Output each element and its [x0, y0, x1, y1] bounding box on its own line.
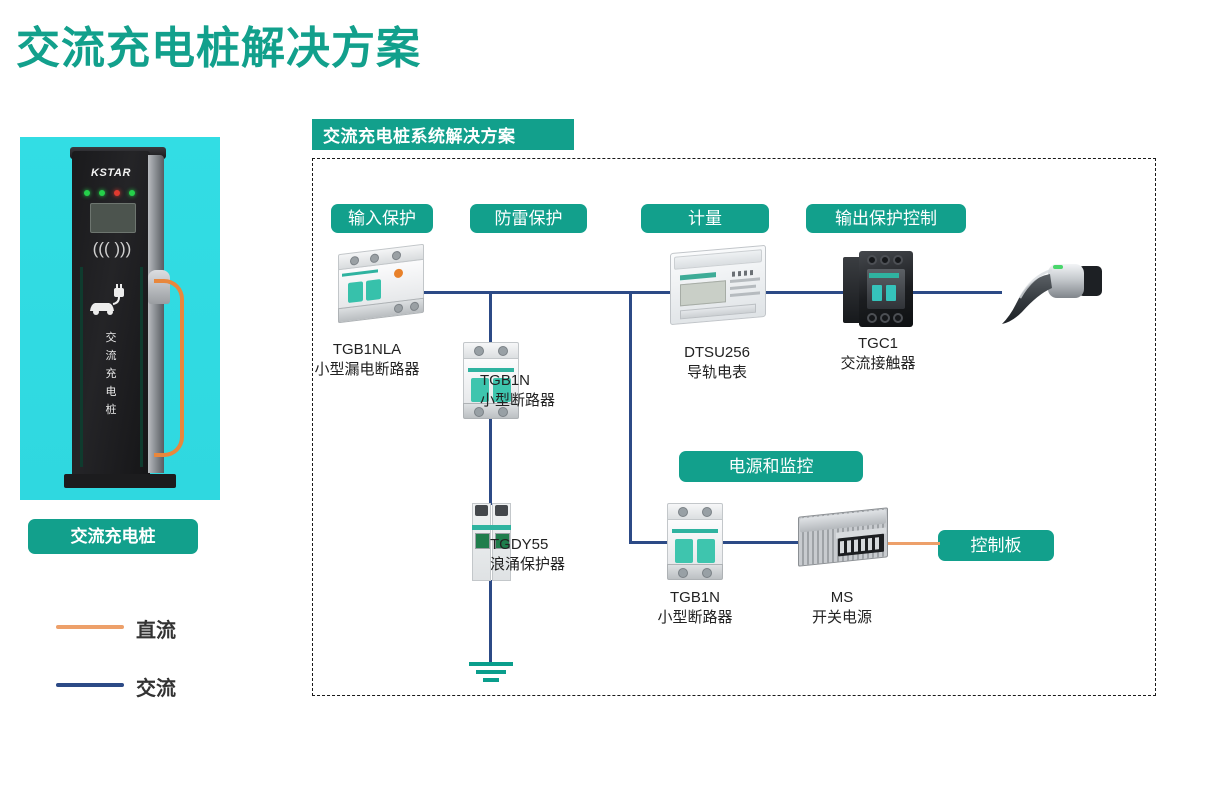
stage-label-power-monitoring: 电源和监控 [679, 451, 863, 482]
ev-charging-gun-icon [990, 258, 1110, 330]
wire-ac-psu-branch-vertical [629, 291, 632, 543]
caption-contactor-model: TGC1 [788, 334, 968, 354]
stage-label-metering: 计量 [641, 204, 769, 233]
rfid-wave-icon: ((( ))) [92, 237, 132, 261]
caption-meter-name: 导轨电表 [627, 363, 807, 383]
caption-mcb-upper-name: 小型断路器 [480, 391, 660, 411]
caption-psu-model: MS [752, 588, 932, 608]
device-meter-dtsu256 [670, 245, 766, 325]
status-led-3 [114, 190, 120, 196]
wire-ac-spd-to-ground [489, 580, 492, 663]
legend-swatch-dc [56, 625, 124, 629]
wire-ac-mcb-to-psu [722, 541, 802, 544]
caption-meter-model: DTSU256 [627, 343, 807, 363]
legend-label-dc: 直流 [136, 614, 176, 643]
caption-spd-model: TGDY55 [490, 535, 670, 555]
pile-vertical-text: 交流充电桩 [72, 329, 150, 419]
wire-ac-contactor-to-gun [900, 291, 1002, 294]
earth-ground-icon [465, 660, 517, 686]
ac-charging-pile-photo: KSTAR ((( ))) 交流充电桩 [20, 137, 220, 500]
stage-label-input-protection: 输入保护 [331, 204, 433, 233]
caption-rcbo-name: 小型漏电断路器 [272, 360, 462, 380]
caption-contactor-name: 交流接触器 [788, 354, 968, 374]
page-title: 交流充电桩解决方案 [16, 22, 421, 76]
stage-label-control-board: 控制板 [938, 530, 1054, 561]
ev-charging-car-icon [84, 280, 138, 320]
device-rcbo-tgb1nla [338, 244, 424, 325]
caption-rcbo-model: TGB1NLA [272, 340, 462, 360]
stage-label-output-protection: 输出保护控制 [806, 204, 966, 233]
caption-spd-name: 浪涌保护器 [490, 555, 670, 575]
pile-brand-label: KSTAR [72, 167, 150, 179]
legend-swatch-ac [56, 683, 124, 687]
device-psu-ms [798, 507, 888, 572]
device-mcb-lower-tgb1n [667, 503, 723, 581]
pile-charging-cable [154, 279, 184, 457]
status-led-1 [84, 190, 90, 196]
status-led-2 [99, 190, 105, 196]
pile-base-plate [64, 474, 176, 488]
wire-ac-spd-branch-mid [489, 415, 492, 505]
section-header-bar: 交流充电桩系统解决方案 [312, 119, 574, 150]
device-contactor-tgc1 [843, 251, 913, 327]
legend-label-ac: 交流 [136, 672, 176, 701]
pile-display-screen [90, 203, 136, 233]
stage-label-surge-protection: 防雷保护 [470, 204, 587, 233]
wire-ac-main-bus-left [414, 291, 674, 294]
wire-dc-psu-to-control-board [882, 542, 940, 545]
status-led-4 [129, 190, 135, 196]
caption-psu-name: 开关电源 [752, 608, 932, 628]
pile-caption-pill: 交流充电桩 [28, 519, 198, 554]
